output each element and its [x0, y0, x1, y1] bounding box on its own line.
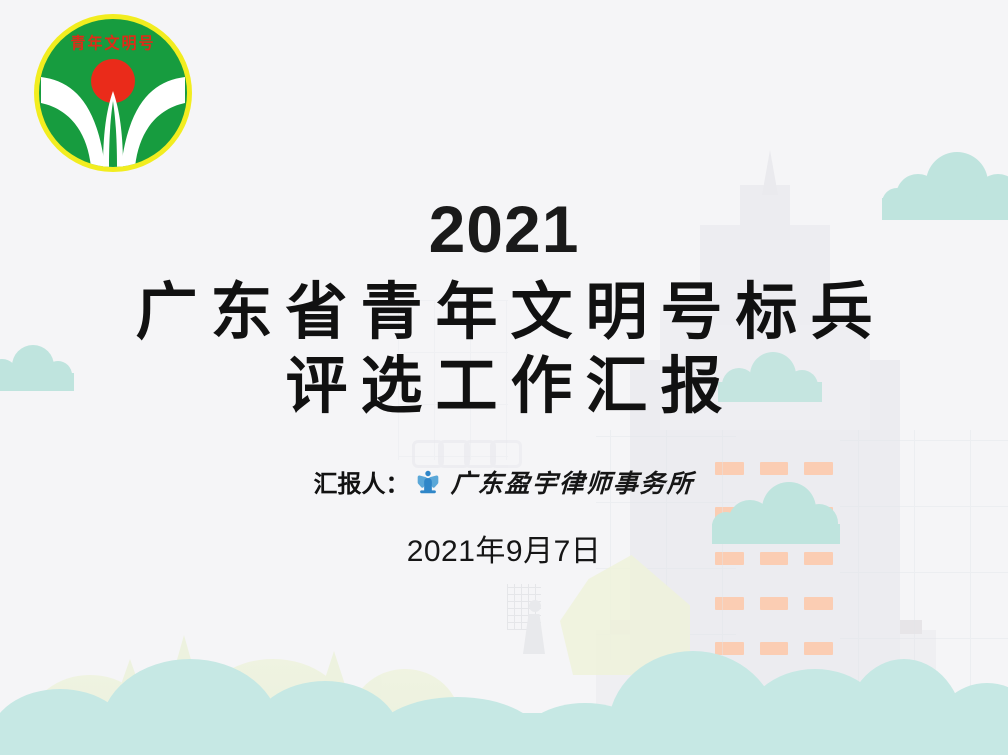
law-firm-person-logo-icon [414, 468, 442, 496]
bush [250, 681, 400, 755]
window-cell [715, 642, 744, 655]
bush [740, 669, 890, 755]
window-cell [804, 642, 833, 655]
faint-shrub-center [560, 555, 690, 675]
bush-band [0, 625, 1008, 755]
emblem-green-disc: 青年文明号 [39, 19, 187, 167]
window-cell [760, 642, 789, 655]
year-heading: 2021 [0, 196, 1008, 262]
bush [932, 683, 1008, 755]
building-spire [762, 150, 778, 195]
building-base-block [596, 630, 936, 755]
firm-name: 广东盈宇律师事务所 [451, 464, 696, 500]
main-title-line-1: 广东省青年文明号标兵 [0, 276, 1008, 348]
youth-civilization-emblem: 青年文明号 [34, 14, 192, 172]
faint-treeline [0, 595, 430, 755]
bush [0, 689, 130, 755]
emblem-calligraphy-text: 青年文明号 [39, 31, 187, 53]
window-cell [715, 597, 744, 610]
decorative-figure-silhouette [505, 600, 565, 685]
window-cell [804, 597, 833, 610]
bush [100, 659, 280, 755]
title-block: 2021 广东省青年文明号标兵 评选工作汇报 汇报人： 广东盈宇律师事务所 20… [0, 196, 1008, 570]
bush [844, 659, 964, 755]
window-cell [760, 597, 789, 610]
presenter-label: 汇报人： [313, 464, 409, 499]
main-title-line-2: 评选工作汇报 [0, 350, 1008, 422]
bush [520, 703, 650, 755]
building-plinth [610, 620, 922, 634]
presentation-date: 2021年9月7日 [0, 526, 1008, 570]
presenter-row: 汇报人： 广东盈宇律师事务所 [0, 464, 1008, 500]
bush [608, 651, 778, 755]
bush [372, 697, 542, 755]
presentation-title-slide: 青年文明号 2021 广东省青年文明号标兵 评选工作汇报 汇报人： 广东盈宇律师… [0, 0, 1008, 755]
